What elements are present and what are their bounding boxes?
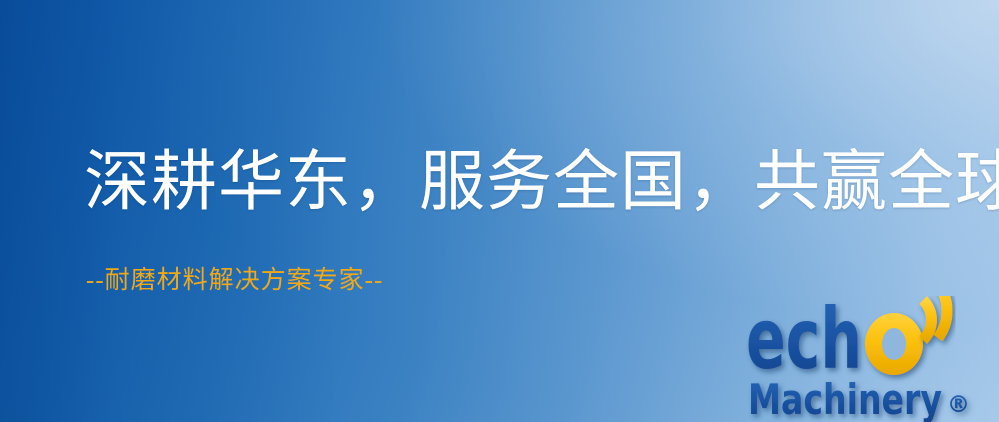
echo-machinery-logo[interactable]: ech Machinery ® [742,296,999,422]
banner-content: 深耕华东，服务全国，共赢全球 --耐磨材料解决方案专家-- [0,0,999,422]
signal-arc-outer [938,296,947,338]
logo-machinery-text: Machinery [748,375,942,422]
signal-arc-inner [923,300,931,340]
banner-headline: 深耕华东，服务全国，共赢全球 [84,150,999,216]
banner-subtitle: --耐磨材料解决方案专家-- [86,268,383,293]
logo-registered-mark: ® [947,392,970,418]
logo-o-counter [882,328,906,360]
logo-o-letter [865,313,923,375]
logo-signal-arcs [923,296,947,340]
logo-tagline-group: Machinery ® [748,375,970,422]
hero-banner: 深耕华东，服务全国，共赢全球 --耐磨材料解决方案专家-- [0,0,999,422]
